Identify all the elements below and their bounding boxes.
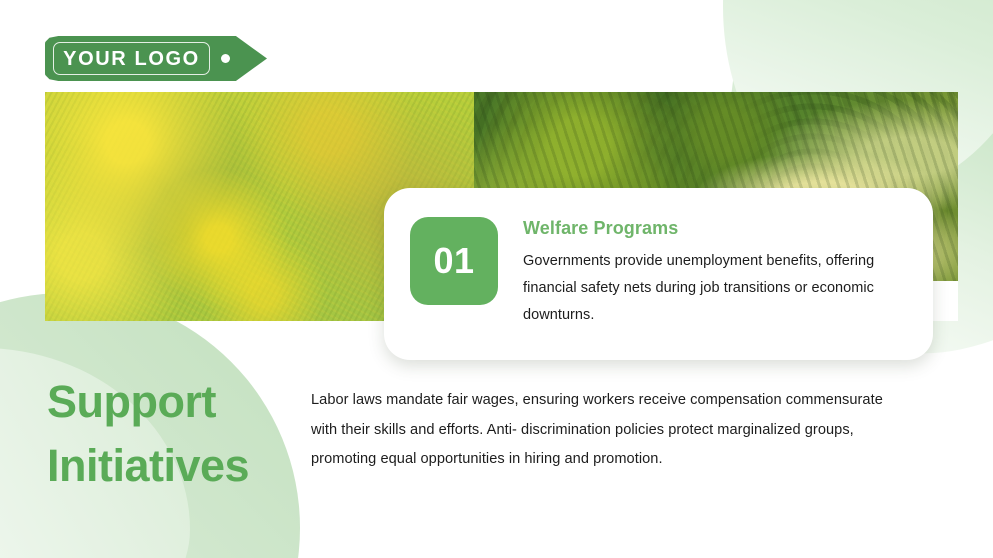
- card-body: Welfare Programs Governments provide une…: [523, 217, 907, 329]
- page-title-line-1: Support: [47, 376, 216, 427]
- logo-text: YOUR LOGO: [63, 49, 200, 69]
- card-description: Governments provide unemployment benefit…: [523, 248, 907, 330]
- logo-inner-outline: YOUR LOGO: [53, 42, 210, 75]
- card-title: Welfare Programs: [523, 218, 907, 240]
- page-title-line-2: Initiatives: [47, 434, 307, 498]
- logo-dot-icon: [221, 54, 230, 63]
- page-title: Support Initiatives: [47, 370, 307, 498]
- card-number: 01: [433, 243, 474, 279]
- feature-card[interactable]: 01 Welfare Programs Governments provide …: [384, 188, 933, 360]
- card-number-badge: 01: [410, 217, 498, 305]
- slide-canvas: YOUR LOGO 01 Welfare Programs Government…: [0, 0, 993, 558]
- logo[interactable]: YOUR LOGO: [45, 36, 267, 81]
- body-paragraph: Labor laws mandate fair wages, ensuring …: [311, 386, 901, 475]
